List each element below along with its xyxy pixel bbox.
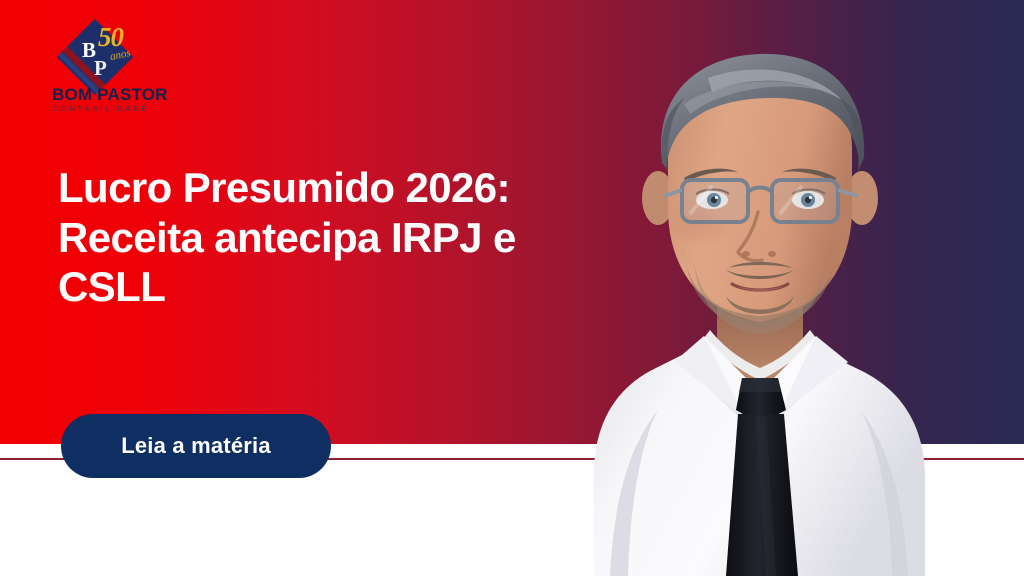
anniversary-number: 50	[98, 24, 123, 51]
brand-logo[interactable]: B P 50 anos BOM PASTOR CONTABILIDADE	[52, 24, 202, 124]
social-media-banner: B P 50 anos BOM PASTOR CONTABILIDADE Luc…	[0, 0, 1024, 576]
company-name: BOM PASTOR	[52, 86, 168, 103]
company-tagline: CONTABILIDADE	[53, 106, 149, 113]
portrait-photo	[498, 0, 1024, 576]
read-article-button[interactable]: Leia a matéria	[61, 414, 331, 478]
logo-letter-p: P	[94, 58, 107, 79]
read-article-button-label: Leia a matéria	[121, 433, 271, 459]
